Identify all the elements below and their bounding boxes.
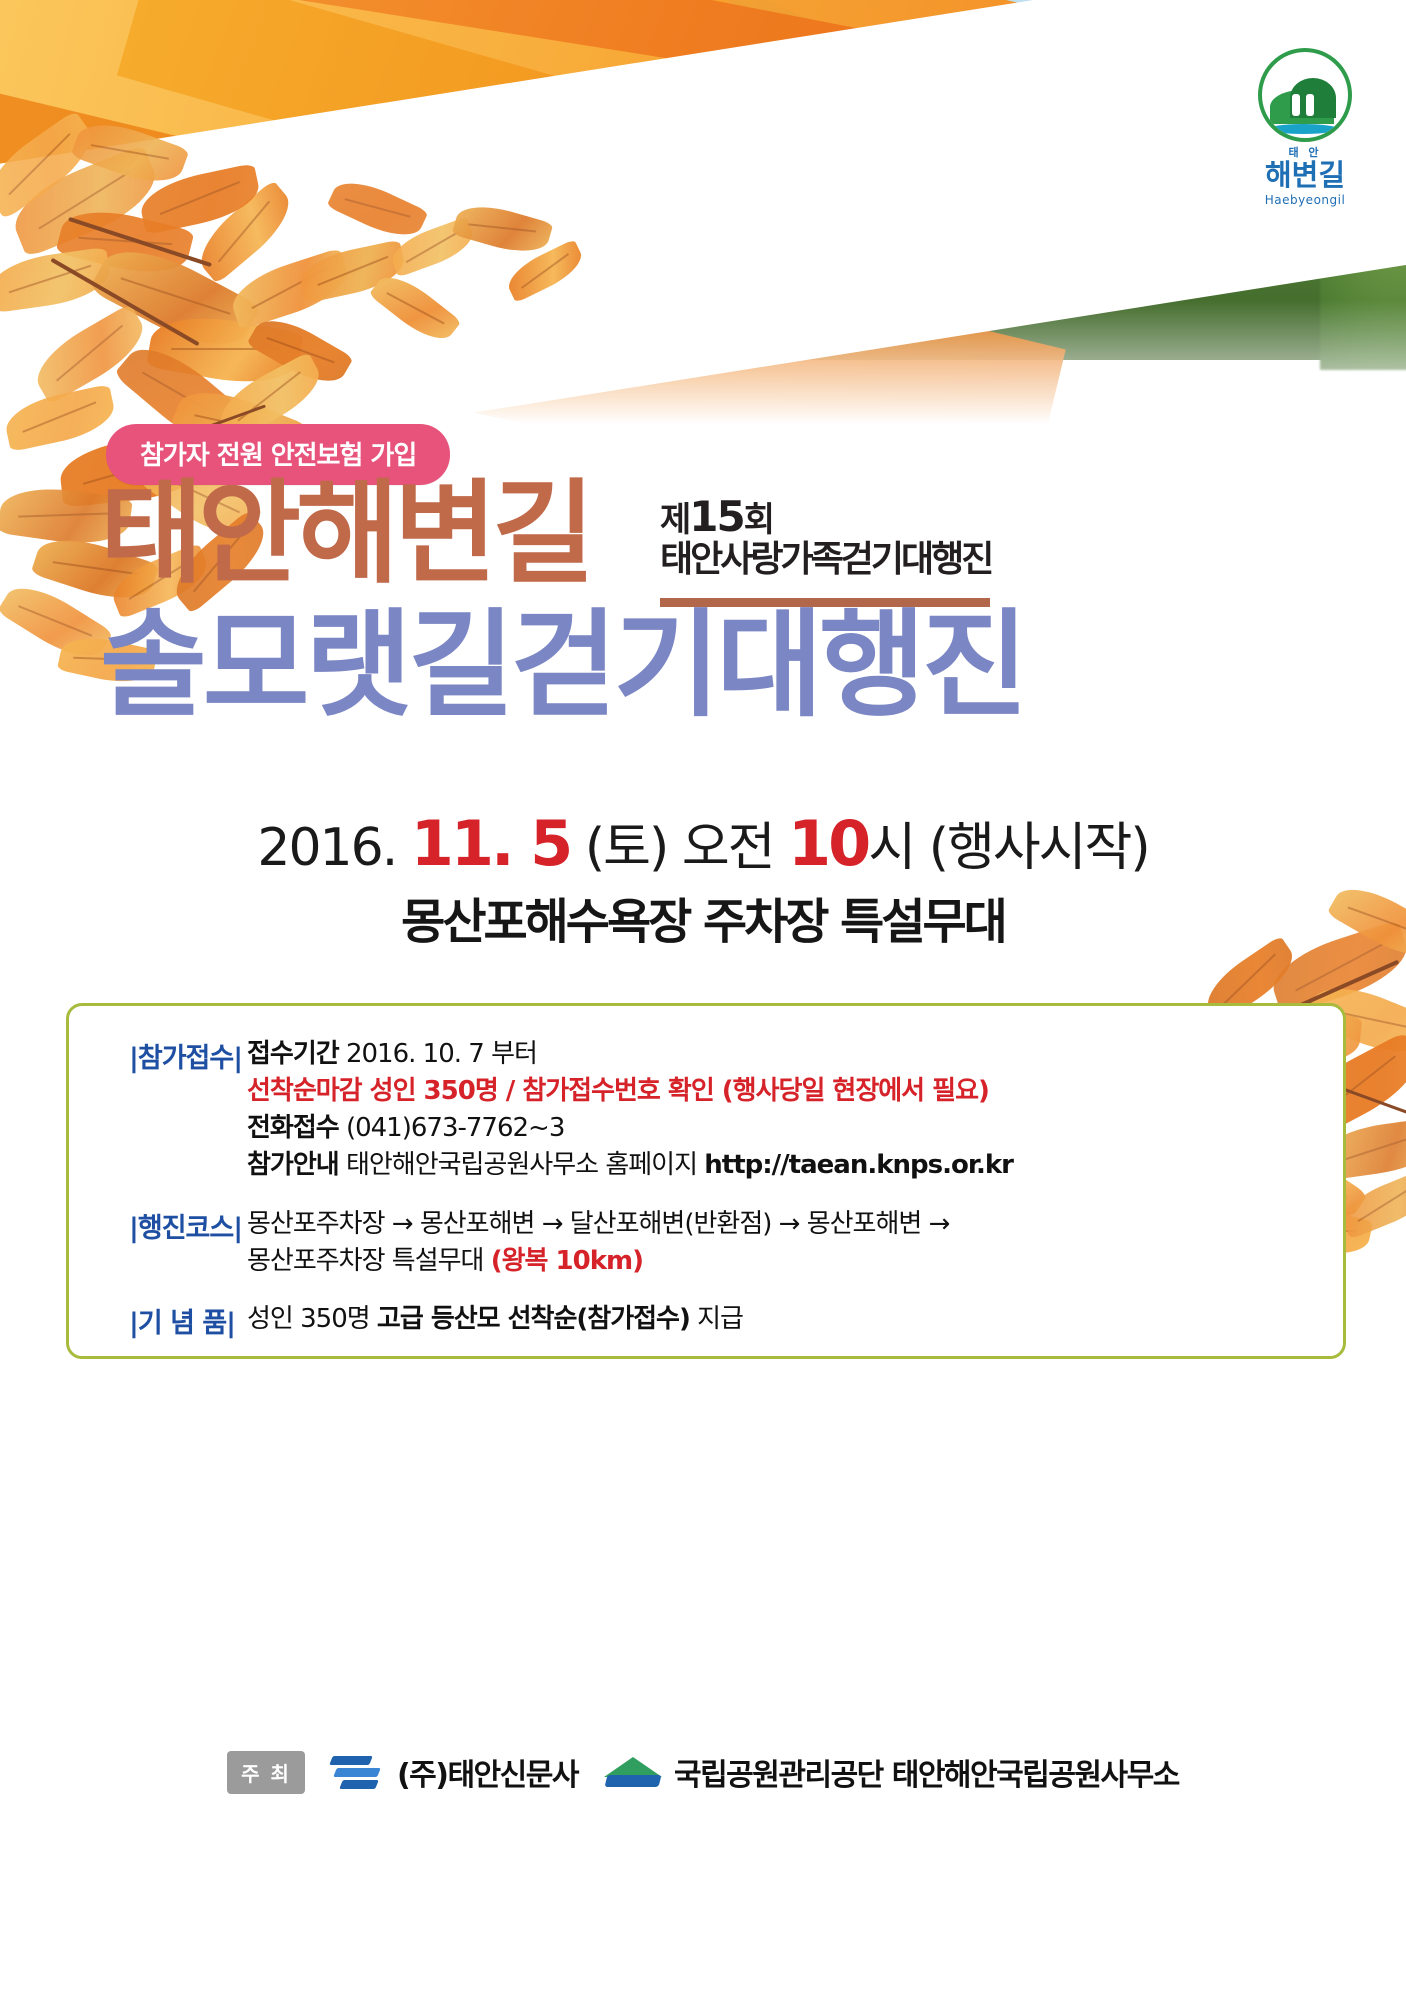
title-line-1: 태안해변길 <box>100 478 590 590</box>
poster-root: 태 안 해변길 Haebyeongil 참가자 전원 안전보험 가입 태안해변길… <box>0 0 1406 2008</box>
mountain-path-logo-icon <box>1258 48 1352 142</box>
haebyeongil-logo: 태 안 해변길 Haebyeongil <box>1240 48 1370 208</box>
footer-organizers: 주 최 (주)태안신문사 국립공원관리공단 태안해안국립공원사무소 <box>0 1750 1406 1794</box>
venue-text: 몽산포해수욕장 주차장 특설무대 <box>0 882 1406 952</box>
detail-line-value: (041)673-7762~3 <box>339 1113 565 1143</box>
detail-section: |기 념 품|성인 350명 고급 등산모 선착순(참가접수) 지급 <box>129 1301 1343 1340</box>
detail-line-value: 성인 350명 <box>247 1304 377 1334</box>
date-year: 2016. <box>257 818 396 878</box>
wave-shape <box>1268 124 1338 134</box>
date-weekday: (토) <box>585 818 667 878</box>
detail-label: |참가접수| <box>129 1036 247 1075</box>
detail-line-value: 2016. 10. 7 부터 <box>339 1039 537 1069</box>
detail-section: |참가접수|접수기간 2016. 10. 7 부터선착순마감 성인 350명 /… <box>129 1036 1343 1184</box>
edition-number: 15 <box>689 492 743 541</box>
event-name: 태안사랑가족걷기대행진 <box>660 541 1020 579</box>
person-icon-a <box>1292 94 1300 116</box>
person-icon-b <box>1306 94 1314 116</box>
detail-line: 성인 350명 고급 등산모 선착순(참가접수) 지급 <box>247 1301 743 1338</box>
detail-body: 몽산포주차장 → 몽산포해변 → 달산포해변(반환점) → 몽산포해변 →몽산포… <box>247 1206 949 1280</box>
details-box: |참가접수|접수기간 2016. 10. 7 부터선착순마감 성인 350명 /… <box>66 1003 1346 1359</box>
detail-line-value: 몽산포주차장 → 몽산포해변 → 달산포해변(반환점) → 몽산포해변 → <box>247 1209 949 1239</box>
detail-line-value: 몽산포주차장 특설무대 <box>247 1246 491 1276</box>
detail-line: 참가안내 태안해안국립공원사무소 홈페이지 http://taean.knps.… <box>247 1147 1013 1184</box>
date-ampm: 오전 <box>682 818 774 878</box>
detail-body: 접수기간 2016. 10. 7 부터선착순마감 성인 350명 / 참가접수번… <box>247 1036 1013 1184</box>
detail-line-value: 선착순마감 성인 350명 / 참가접수번호 확인 (행사당일 현장에서 필요) <box>247 1076 989 1106</box>
edition-prefix: 제 <box>660 500 689 540</box>
event-datetime: 2016. 11. 5 (토) 오전 10시 (행사시작) <box>0 805 1406 880</box>
detail-line-key: 참가안내 <box>247 1150 339 1180</box>
detail-line: 선착순마감 성인 350명 / 참가접수번호 확인 (행사당일 현장에서 필요) <box>247 1073 1013 1110</box>
detail-line-url[interactable]: http://taean.knps.or.kr <box>704 1150 1013 1180</box>
taean-newspaper-logo-icon <box>331 1752 385 1792</box>
organizer-1-name: (주)태안신문사 <box>397 1750 578 1794</box>
detail-line-distance: (왕복 10km) <box>491 1246 643 1276</box>
logo-romanization: Haebyeongil <box>1240 193 1370 207</box>
detail-line: 접수기간 2016. 10. 7 부터 <box>247 1036 1013 1073</box>
event-subtitle-block: 제15회 태안사랑가족걷기대행진 <box>660 495 1020 579</box>
edition-suffix: 회 <box>744 500 773 540</box>
date-month-day: 11. 5 <box>411 807 571 880</box>
detail-label: |행진코스| <box>129 1206 247 1245</box>
detail-line-key: 접수기간 <box>247 1039 339 1069</box>
detail-line-value: 태안해안국립공원사무소 홈페이지 <box>339 1150 705 1180</box>
organizer-2-name: 국립공원관리공단 태안해안국립공원사무소 <box>674 1750 1179 1794</box>
organizer-2: 국립공원관리공단 태안해안국립공원사무소 <box>604 1750 1179 1794</box>
title-line-2: 솔모랫길걷기대행진 <box>100 608 1024 724</box>
detail-line: 몽산포주차장 특설무대 (왕복 10km) <box>247 1243 949 1280</box>
detail-line-key: 전화접수 <box>247 1113 339 1143</box>
logo-title: 해변길 <box>1240 161 1370 190</box>
detail-line-emphasis: 고급 등산모 선착순(참가접수) <box>377 1304 690 1334</box>
detail-line: 전화접수 (041)673-7762~3 <box>247 1110 1013 1147</box>
detail-line: 몽산포주차장 → 몽산포해변 → 달산포해변(반환점) → 몽산포해변 → <box>247 1206 949 1243</box>
host-chip: 주 최 <box>227 1751 305 1794</box>
edition-label: 제15회 <box>660 495 1020 539</box>
details-content: |참가접수|접수기간 2016. 10. 7 부터선착순마감 성인 350명 /… <box>69 1006 1343 1340</box>
detail-line-tail: 지급 <box>690 1304 743 1334</box>
date-hour-suffix: 시 <box>868 818 914 878</box>
organizer-1: (주)태안신문사 <box>331 1750 578 1794</box>
detail-label: |기 념 품| <box>129 1301 247 1340</box>
date-hour: 10 <box>788 807 868 880</box>
detail-body: 성인 350명 고급 등산모 선착순(참가접수) 지급 <box>247 1301 743 1338</box>
knps-logo-icon <box>604 1751 662 1793</box>
detail-section: |행진코스|몽산포주차장 → 몽산포해변 → 달산포해변(반환점) → 몽산포해… <box>129 1206 1343 1280</box>
date-note: (행사시작) <box>929 818 1149 878</box>
